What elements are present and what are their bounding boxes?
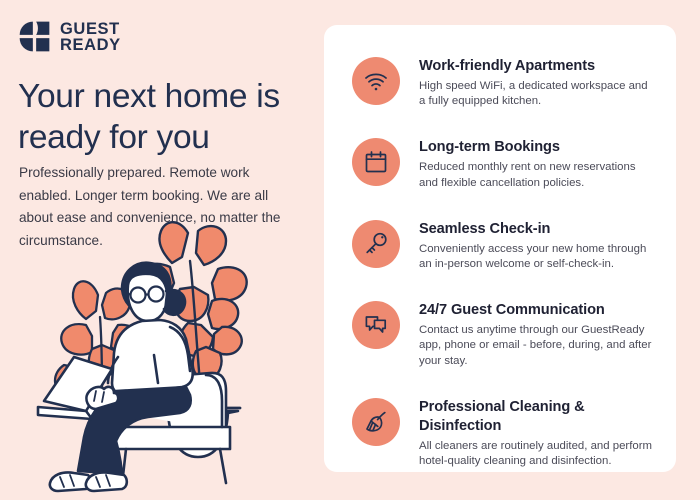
feature-text: Professional Cleaning & Disinfection All… (419, 396, 654, 470)
calendar-icon (363, 149, 389, 175)
features-card: Work-friendly Apartments High speed WiFi… (324, 25, 676, 472)
chat-bubbles-icon (363, 312, 389, 338)
left-column: GUEST READY Your next home is ready for … (0, 0, 324, 500)
hero-illustration (30, 215, 320, 500)
key-icon (363, 231, 389, 257)
broom-icon (363, 409, 389, 435)
key-icon-badge (352, 220, 400, 268)
feature-description: High speed WiFi, a dedicated workspace a… (419, 79, 654, 110)
feature-text: Long-term Bookings Reduced monthly rent … (419, 136, 654, 191)
feature-description: All cleaners are routinely audited, and … (419, 439, 654, 470)
feature-title: Professional Cleaning & Disinfection (419, 398, 654, 436)
guestready-quadrant-logo-icon (18, 20, 51, 53)
brand-wordmark: GUEST READY (60, 21, 121, 53)
feature-description: Reduced monthly rent on new reservations… (419, 160, 654, 191)
feature-title: Seamless Check-in (419, 220, 654, 239)
wifi-icon (363, 68, 389, 94)
feature-title: Long-term Bookings (419, 138, 654, 157)
feature-item-long-term-bookings[interactable]: Long-term Bookings Reduced monthly rent … (352, 136, 654, 191)
calendar-icon-badge (352, 138, 400, 186)
feature-item-guest-communication[interactable]: 24/7 Guest Communication Contact us anyt… (352, 299, 654, 369)
brand-logo[interactable]: GUEST READY (18, 20, 121, 53)
broom-icon-badge (352, 398, 400, 446)
feature-text: 24/7 Guest Communication Contact us anyt… (419, 299, 654, 369)
wifi-icon-badge (352, 57, 400, 105)
promo-page: GUEST READY Your next home is ready for … (0, 0, 700, 500)
brand-name-line1: GUEST (60, 21, 121, 37)
feature-item-professional-cleaning[interactable]: Professional Cleaning & Disinfection All… (352, 396, 654, 470)
features-list: Work-friendly Apartments High speed WiFi… (324, 25, 676, 469)
feature-title: Work-friendly Apartments (419, 57, 654, 76)
feature-description: Contact us anytime through our GuestRead… (419, 323, 654, 369)
brand-name-line2: READY (60, 37, 121, 53)
feature-text: Seamless Check-in Conveniently access yo… (419, 218, 654, 273)
feature-item-seamless-check-in[interactable]: Seamless Check-in Conveniently access yo… (352, 218, 654, 273)
page-title: Your next home is ready for you (18, 76, 308, 158)
feature-text: Work-friendly Apartments High speed WiFi… (419, 55, 654, 110)
feature-description: Conveniently access your new home throug… (419, 242, 654, 273)
feature-title: 24/7 Guest Communication (419, 301, 654, 320)
feature-item-work-friendly-apartments[interactable]: Work-friendly Apartments High speed WiFi… (352, 55, 654, 110)
chat-bubbles-icon-badge (352, 301, 400, 349)
